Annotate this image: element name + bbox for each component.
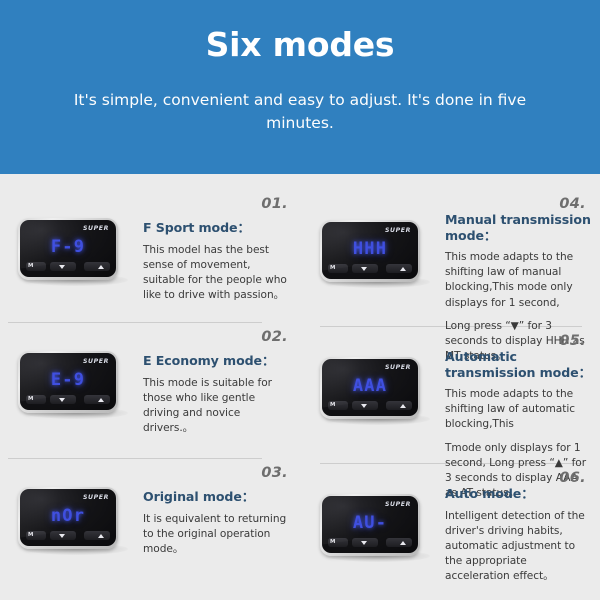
mode-number: 02. bbox=[261, 329, 288, 345]
page-root: Six modes It's simple, convenient and ea… bbox=[0, 0, 600, 600]
device-face: SUPER AAA M bbox=[322, 359, 418, 416]
device-image-05: SUPER AAA M bbox=[320, 357, 428, 425]
device-button-m-label: M bbox=[28, 395, 33, 404]
device-body: SUPER E-9 M bbox=[18, 351, 118, 413]
page-subtitle: It's simple, convenient and easy to adju… bbox=[50, 89, 550, 135]
mode-number: 04. bbox=[559, 196, 586, 212]
device-image-01: SUPER F-9 M bbox=[18, 218, 126, 286]
mode-item-03[interactable]: 03. SUPER nOr M bbox=[0, 459, 300, 600]
triangle-down-icon bbox=[361, 541, 367, 545]
device-brand-logo: SUPER bbox=[83, 494, 109, 501]
triangle-down-icon bbox=[59, 398, 65, 402]
device-body: SUPER AU- M bbox=[320, 494, 420, 556]
mode-item-05[interactable]: 05. SUPER AAA M bbox=[300, 327, 600, 464]
mode-title: Auto mode： bbox=[445, 486, 593, 502]
device-button-row: M bbox=[322, 401, 418, 411]
device-button-up[interactable] bbox=[386, 538, 412, 547]
device-led-display: HHH bbox=[322, 239, 418, 259]
mode-item-06[interactable]: 06. SUPER AU- M bbox=[300, 464, 600, 600]
device-button-row: M bbox=[20, 395, 116, 405]
device-button-m-label: M bbox=[330, 538, 335, 547]
device-image-03: SUPER nOr M bbox=[18, 487, 126, 555]
mode-title: Automatic transmission mode： bbox=[445, 349, 593, 380]
triangle-up-icon bbox=[400, 267, 406, 271]
device-button-up[interactable] bbox=[386, 401, 412, 410]
device-face: SUPER E-9 M bbox=[20, 353, 116, 410]
mode-description: This mode is suitable for those who like… bbox=[143, 376, 291, 437]
device-button-row: M bbox=[322, 538, 418, 548]
device-button-m-label: M bbox=[330, 264, 335, 273]
mode-description: Intelligent detection of the driver's dr… bbox=[445, 509, 593, 585]
device-button-up[interactable] bbox=[84, 262, 110, 271]
device-image-06: SUPER AU- M bbox=[320, 494, 428, 562]
modes-column-left: 01. SUPER F-9 M bbox=[0, 174, 300, 600]
page-header: Six modes It's simple, convenient and ea… bbox=[0, 0, 600, 174]
device-button-m-label: M bbox=[28, 531, 33, 540]
device-button-m-label: M bbox=[330, 401, 335, 410]
triangle-up-icon bbox=[98, 265, 104, 269]
device-image-02: SUPER E-9 M bbox=[18, 351, 126, 419]
triangle-up-icon bbox=[98, 398, 104, 402]
device-face: SUPER HHH M bbox=[322, 222, 418, 279]
device-body: SUPER F-9 M bbox=[18, 218, 118, 280]
mode-item-04[interactable]: 04. SUPER HHH M bbox=[300, 190, 600, 327]
modes-grid: 01. SUPER F-9 M bbox=[0, 174, 600, 600]
triangle-up-icon bbox=[98, 534, 104, 538]
mode-text-block: E Economy mode： This mode is suitable fo… bbox=[143, 353, 291, 436]
mode-item-02[interactable]: 02. SUPER E-9 M bbox=[0, 323, 300, 459]
mode-description: It is equivalent to returning to the ori… bbox=[143, 512, 291, 558]
device-image-04: SUPER HHH M bbox=[320, 220, 428, 288]
triangle-up-icon bbox=[400, 404, 406, 408]
device-face: SUPER nOr M bbox=[20, 489, 116, 546]
triangle-down-icon bbox=[361, 267, 367, 271]
device-button-row: M bbox=[20, 262, 116, 272]
page-title: Six modes bbox=[0, 25, 600, 65]
mode-title: E Economy mode： bbox=[143, 353, 291, 369]
device-face: SUPER AU- M bbox=[322, 496, 418, 553]
mode-number: 03. bbox=[261, 465, 288, 481]
modes-column-right: 04. SUPER HHH M bbox=[300, 174, 600, 600]
device-button-row: M bbox=[20, 531, 116, 541]
device-button-up[interactable] bbox=[386, 264, 412, 273]
mode-text-block: F Sport mode： This model has the best se… bbox=[143, 220, 291, 303]
device-body: SUPER AAA M bbox=[320, 357, 420, 419]
device-led-display: AU- bbox=[322, 513, 418, 533]
triangle-up-icon bbox=[400, 541, 406, 545]
device-brand-logo: SUPER bbox=[385, 364, 411, 371]
mode-title: Manual transmission mode： bbox=[445, 212, 593, 243]
triangle-down-icon bbox=[59, 534, 65, 538]
device-face: SUPER F-9 M bbox=[20, 220, 116, 277]
mode-description: This mode adapts to the shifting law of … bbox=[445, 250, 593, 311]
mode-description: This model has the best sense of movemen… bbox=[143, 243, 291, 304]
mode-description: This mode adapts to the shifting law of … bbox=[445, 387, 593, 433]
mode-title: Original mode： bbox=[143, 489, 291, 505]
mode-text-block: Original mode： It is equivalent to retur… bbox=[143, 489, 291, 557]
triangle-down-icon bbox=[361, 404, 367, 408]
mode-item-01[interactable]: 01. SUPER F-9 M bbox=[0, 190, 300, 323]
device-brand-logo: SUPER bbox=[83, 358, 109, 365]
device-button-up[interactable] bbox=[84, 531, 110, 540]
mode-number: 05. bbox=[559, 333, 586, 349]
device-body: SUPER nOr M bbox=[18, 487, 118, 549]
device-brand-logo: SUPER bbox=[385, 227, 411, 234]
device-led-display: E-9 bbox=[20, 370, 116, 390]
mode-number: 06. bbox=[559, 470, 586, 486]
triangle-down-icon bbox=[59, 265, 65, 269]
device-led-display: nOr bbox=[20, 506, 116, 526]
mode-title: F Sport mode： bbox=[143, 220, 291, 236]
device-brand-logo: SUPER bbox=[83, 225, 109, 232]
device-brand-logo: SUPER bbox=[385, 501, 411, 508]
mode-number: 01. bbox=[261, 196, 288, 212]
device-body: SUPER HHH M bbox=[320, 220, 420, 282]
device-led-display: AAA bbox=[322, 376, 418, 396]
device-button-up[interactable] bbox=[84, 395, 110, 404]
mode-text-block: Auto mode： Intelligent detection of the … bbox=[445, 486, 593, 585]
device-button-m-label: M bbox=[28, 262, 33, 271]
device-led-display: F-9 bbox=[20, 237, 116, 257]
device-button-row: M bbox=[322, 264, 418, 274]
